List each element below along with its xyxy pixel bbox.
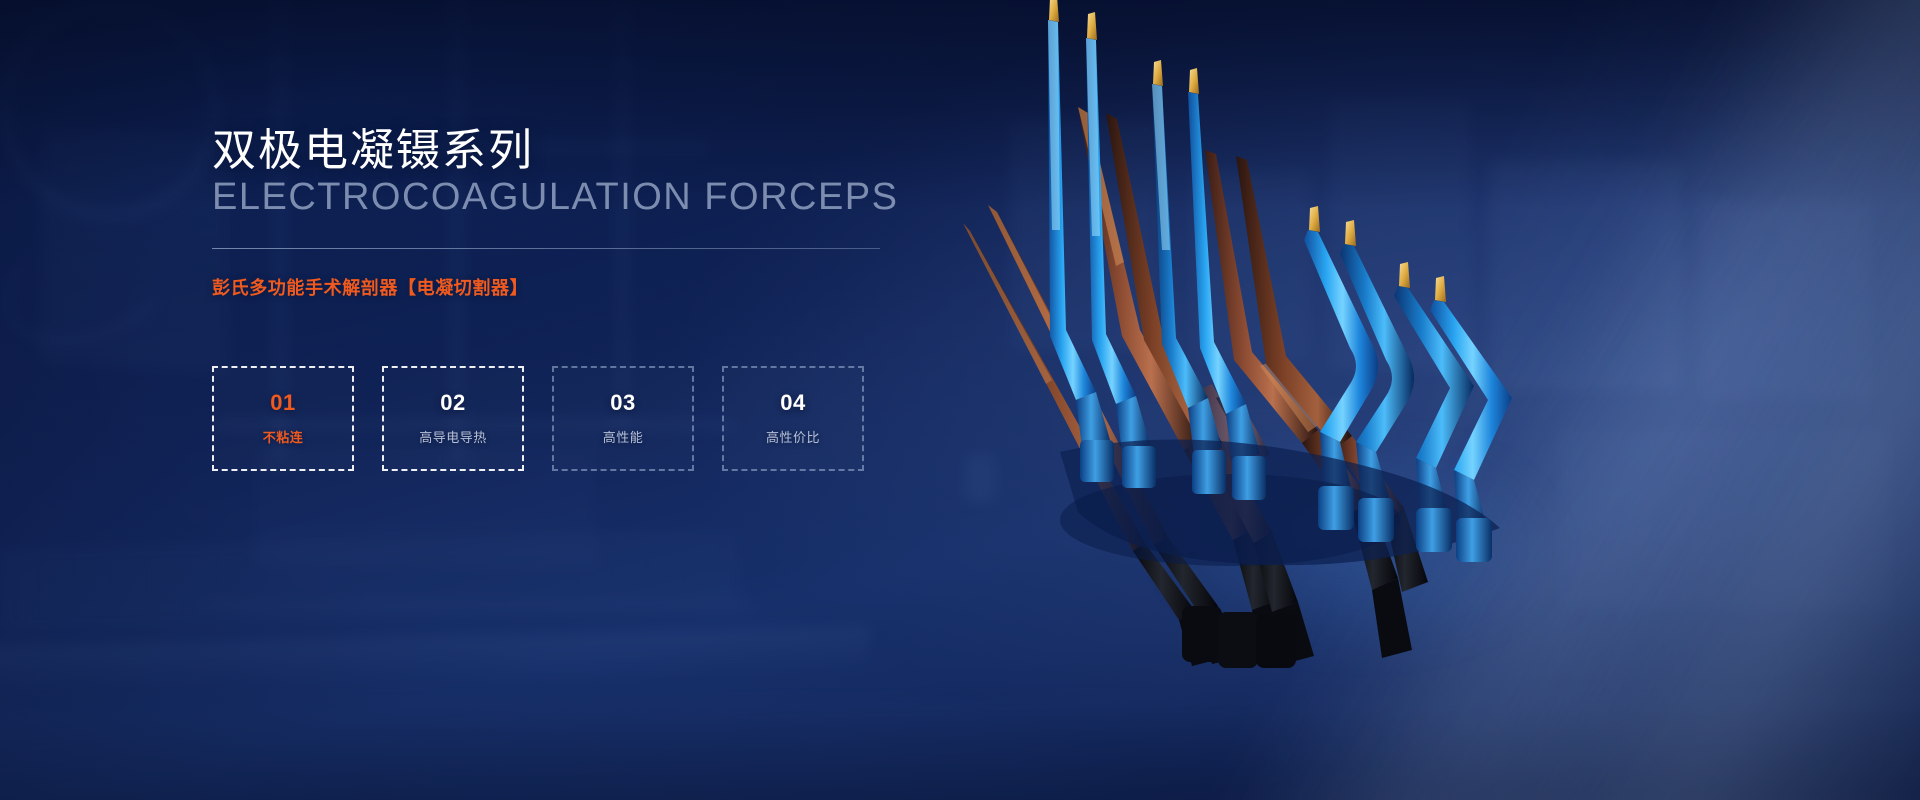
page-title: 双极电凝镊系列	[212, 114, 534, 178]
hero-text-column: 双极电凝镊系列 ELECTROCOAGULATION FORCEPS 彭氏多功能…	[212, 0, 932, 800]
product-image-forceps	[900, 0, 1920, 800]
feature-number: 03	[610, 392, 635, 414]
feature-box-04[interactable]: 04 高性价比	[722, 366, 864, 471]
feature-box-02[interactable]: 02 高导电导热	[382, 366, 524, 471]
product-hero-banner: 双极电凝镊系列 ELECTROCOAGULATION FORCEPS 彭氏多功能…	[0, 0, 1920, 800]
feature-label: 不粘连	[263, 427, 304, 446]
feature-label: 高导电导热	[419, 427, 487, 446]
forceps-illustration	[900, 0, 1920, 800]
divider	[212, 248, 880, 249]
feature-number: 04	[780, 392, 805, 414]
feature-box-list: 01 不粘连 02 高导电导热 03 高性能 04 高性价比	[212, 366, 864, 471]
feature-label: 高性价比	[766, 427, 820, 446]
feature-label: 高性能	[603, 427, 644, 446]
feature-box-03[interactable]: 03 高性能	[552, 366, 694, 471]
page-subtitle-english: ELECTROCOAGULATION FORCEPS	[212, 176, 899, 219]
feature-box-01[interactable]: 01 不粘连	[212, 366, 354, 471]
feature-number: 02	[440, 392, 465, 414]
product-name-label: 彭氏多功能手术解剖器【电凝切割器】	[212, 274, 528, 300]
feature-number: 01	[270, 392, 295, 414]
